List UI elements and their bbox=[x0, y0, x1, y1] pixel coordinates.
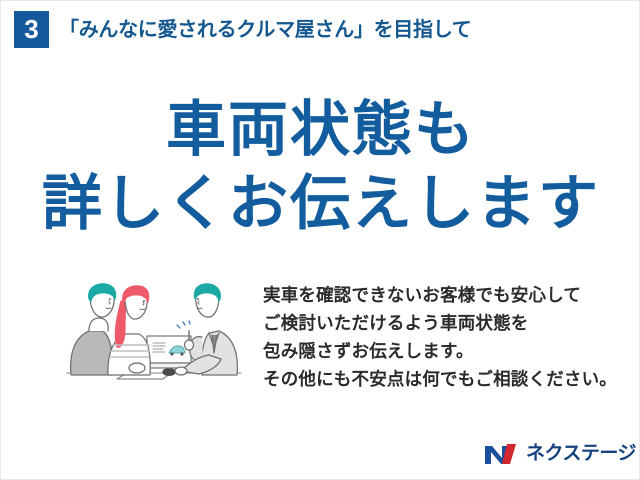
section-number-badge: 3 bbox=[14, 11, 49, 48]
body-section: 実車を確認できないお客様でも安心して ご検討いただけるよう車両状態を 包み隠さず… bbox=[1, 273, 640, 408]
header-title: 「みんなに愛されるクルマ屋さん」を目指して bbox=[59, 15, 472, 45]
headline: 車両状態も 詳しくお伝えします bbox=[1, 93, 640, 241]
copy-line-3: 包み隠さずお伝えします。 bbox=[263, 337, 623, 365]
headline-line-2: 詳しくお伝えします bbox=[1, 167, 640, 241]
copy-line-2: ご検討いただけるよう車両状態を bbox=[263, 309, 623, 337]
brand-logo: ネクステージ bbox=[483, 441, 623, 467]
copy-line-4: その他にも不安点は何でもご相談ください。 bbox=[263, 365, 623, 393]
promotional-banner: 3 「みんなに愛されるクルマ屋さん」を目指して 車両状態も 詳しくお伝えします bbox=[0, 0, 640, 480]
consultation-illustration bbox=[59, 275, 249, 393]
nextage-n-icon bbox=[483, 442, 519, 466]
brand-wordmark: ネクステージ bbox=[526, 442, 636, 466]
body-copy: 実車を確認できないお客様でも安心して ご検討いただけるよう車両状態を 包み隠さず… bbox=[263, 281, 623, 393]
headline-line-1: 車両状態も bbox=[1, 93, 640, 167]
copy-line-1: 実車を確認できないお客様でも安心して bbox=[263, 281, 623, 309]
